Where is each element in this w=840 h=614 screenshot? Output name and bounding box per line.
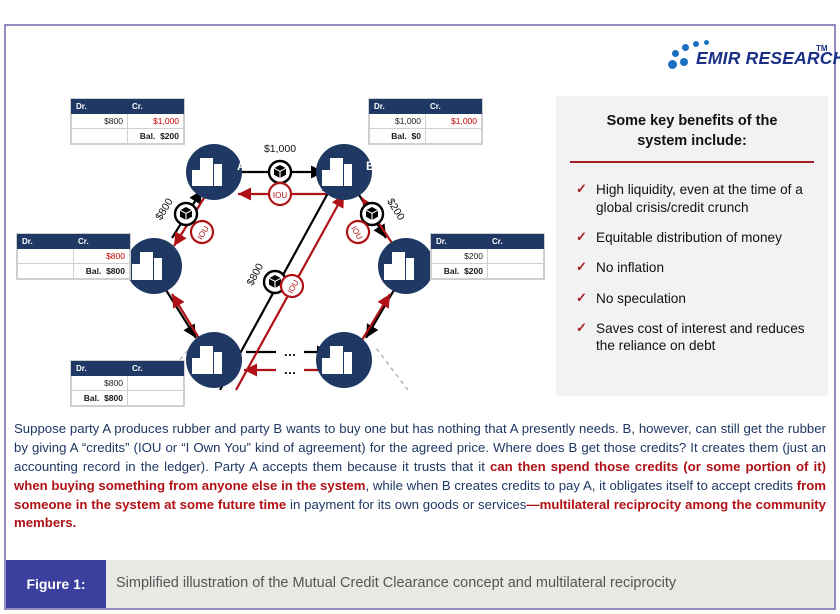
node-bottom-left: [186, 332, 242, 388]
col-dr: Dr.: [370, 100, 426, 114]
col-dr: Dr.: [432, 235, 488, 249]
col-cr: Cr.: [128, 362, 184, 376]
col-cr: Cr.: [488, 235, 544, 249]
check-icon: ✓: [576, 259, 587, 276]
paragraph-text: , while when B creates credits to pay A,…: [366, 478, 797, 493]
cell-dr-bal: [18, 264, 74, 279]
edge-ellipsis: …: [284, 362, 297, 377]
cell-dr: $200: [432, 249, 488, 264]
benefit-item: ✓Equitable distribution of money: [574, 229, 814, 246]
iou-icon: IOU: [269, 183, 291, 205]
cell-cr: $1,000: [426, 114, 482, 129]
benefit-text: No inflation: [596, 260, 664, 275]
cell-dr: [18, 249, 74, 264]
check-icon: ✓: [576, 320, 587, 337]
logo-dot: [693, 41, 699, 47]
node-a-label: A: [237, 159, 246, 173]
ledger-table-right: Dr.Cr. $200 Bal. $200: [430, 233, 545, 280]
ledger-table-bottom: Dr.Cr. $800 Bal. $800: [70, 360, 185, 407]
benefit-text: High liquidity, even at the time of a gl…: [596, 182, 803, 214]
benefits-title: Some key benefits of the system include:: [570, 108, 814, 151]
col-cr: Cr.: [128, 100, 184, 114]
benefit-item: ✓No speculation: [574, 290, 814, 307]
cell-cr-bal: [488, 264, 544, 279]
logo-dot: [682, 44, 689, 51]
benefit-item: ✓Saves cost of interest and reduces the …: [574, 320, 814, 355]
cell-dr: $800: [72, 114, 128, 129]
cell-dr-bal: [72, 129, 128, 144]
cell-cr-bal: Bal. $800: [74, 264, 130, 279]
benefits-divider: [570, 161, 814, 163]
cell-dr-bal: Bal. $0: [370, 129, 426, 144]
check-icon: ✓: [576, 181, 587, 198]
node-left: [126, 238, 182, 294]
figure-caption-text: Simplified illustration of the Mutual Cr…: [106, 560, 834, 608]
cell-cr-bal: [426, 129, 482, 144]
col-cr: Cr.: [74, 235, 130, 249]
svg-text:IOU: IOU: [273, 191, 287, 200]
cell-cr-bal: [128, 391, 184, 406]
logo-dot: [704, 40, 709, 45]
edge-label-upper-right: $200: [384, 196, 407, 222]
check-icon: ✓: [576, 229, 587, 246]
key-benefits-panel: Some key benefits of the system include:…: [556, 96, 828, 396]
cell-dr-bal: Bal. $800: [72, 391, 128, 406]
emir-research-logo: EMIR RESEARCH TM: [660, 34, 830, 82]
node-a: A: [186, 144, 246, 200]
logo-dot: [668, 60, 677, 69]
check-icon: ✓: [576, 290, 587, 307]
col-cr: Cr.: [426, 100, 482, 114]
col-dr: Dr.: [72, 362, 128, 376]
ledger-table-b: Dr.Cr. $1,000$1,000 Bal. $0: [368, 98, 483, 145]
goods-icon: [175, 203, 197, 225]
benefit-text: Equitable distribution of money: [596, 230, 782, 245]
cell-cr: [128, 376, 184, 391]
ledger-table-left: Dr.Cr. $800 Bal. $800: [16, 233, 131, 280]
figure-label: Figure 1:: [6, 560, 106, 608]
paragraph-text: in payment for its own goods or services: [286, 497, 526, 512]
logo-trademark: TM: [816, 44, 828, 53]
figure-caption: Figure 1: Simplified illustration of the…: [6, 560, 834, 608]
node-b-label: B: [366, 159, 375, 173]
ledger-table-a: Dr.Cr. $800$1,000 Bal. $200: [70, 98, 185, 145]
cell-dr: $1,000: [370, 114, 426, 129]
goods-icon: [269, 161, 291, 183]
edge-ellipsis: …: [284, 344, 297, 359]
node-b: B: [316, 144, 375, 200]
benefit-text: No speculation: [596, 291, 686, 306]
cell-dr-bal: Bal. $200: [432, 264, 488, 279]
explanatory-paragraph: Suppose party A produces rubber and part…: [14, 420, 826, 533]
edge-label-upper-left: $800: [153, 196, 176, 222]
logo-dot: [680, 58, 688, 66]
cell-cr-bal: Bal. $200: [128, 129, 184, 144]
cell-dr: $800: [72, 376, 128, 391]
col-dr: Dr.: [72, 100, 128, 114]
figure-page: EMIR RESEARCH TM Some key benefits of th…: [0, 0, 840, 614]
benefits-list: ✓High liquidity, even at the time of a g…: [570, 167, 814, 355]
col-dr: Dr.: [18, 235, 74, 249]
node-bottom-right: [316, 332, 372, 388]
benefit-item: ✓No inflation: [574, 259, 814, 276]
cell-cr: $1,000: [128, 114, 184, 129]
benefit-text: Saves cost of interest and reduces the r…: [596, 321, 805, 353]
benefit-item: ✓High liquidity, even at the time of a g…: [574, 181, 814, 216]
node-right: [378, 238, 434, 294]
edge-label-top: $1,000: [264, 143, 296, 155]
cell-cr: $800: [74, 249, 130, 264]
logo-dot: [672, 50, 679, 57]
cell-cr: [488, 249, 544, 264]
